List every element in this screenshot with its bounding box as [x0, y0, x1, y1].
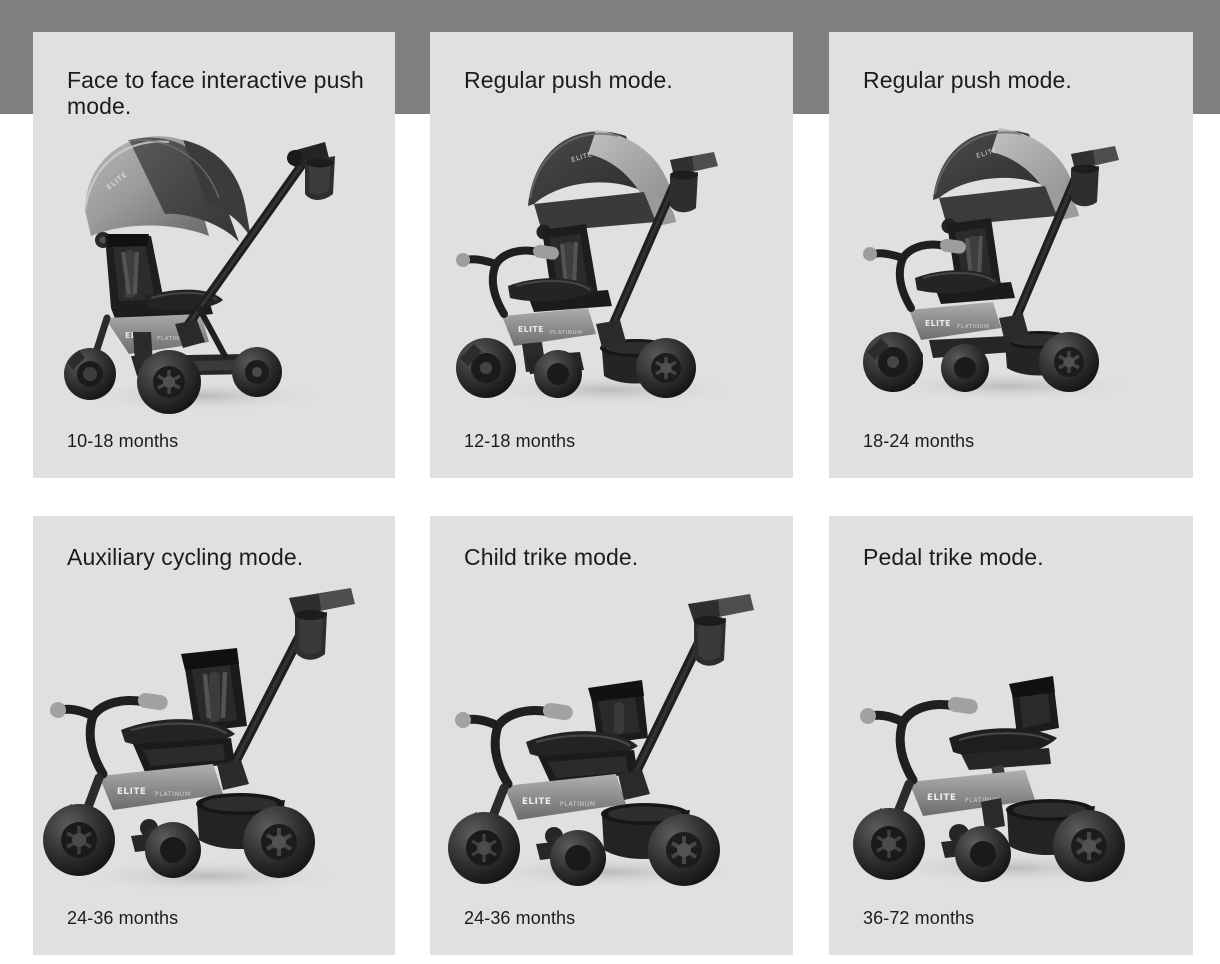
trike-illustration-child-trike: ELITE PLATINUM	[430, 578, 793, 908]
mode-card-face-to-face-push[interactable]: Face to face interactive push mode.	[33, 32, 395, 478]
mode-card-child-trike[interactable]: Child trike mode.	[430, 516, 793, 955]
mode-card-pedal-trike[interactable]: Pedal trike mode.	[829, 516, 1193, 955]
card-caption: 24-36 months	[67, 907, 178, 929]
svg-text:ELITE: ELITE	[927, 793, 957, 803]
svg-text:ELITE: ELITE	[117, 787, 147, 797]
card-title: Regular push mode.	[863, 67, 1177, 93]
card-title: Face to face interactive push mode.	[67, 67, 379, 119]
card-caption: 18-24 months	[863, 430, 974, 452]
card-caption: 24-36 months	[464, 907, 575, 929]
trike-illustration-regular-push-a: ELITE ELITE PLATINUM	[430, 118, 793, 428]
mode-card-regular-push-b[interactable]: Regular push mode.	[829, 32, 1193, 478]
mode-card-auxiliary-cycling[interactable]: Auxiliary cycling mode.	[33, 516, 395, 955]
svg-text:ELITE: ELITE	[518, 325, 544, 334]
card-caption: 36-72 months	[863, 907, 974, 929]
trike-illustration-regular-push-b: ELITE ELITE PLATINUM	[829, 118, 1193, 428]
trike-illustration-auxiliary-cycling: ELITE PLATINUM	[33, 578, 395, 908]
svg-text:ELITE: ELITE	[925, 319, 951, 328]
svg-text:PLATINUM: PLATINUM	[155, 791, 191, 798]
svg-text:PLATINUM: PLATINUM	[550, 330, 583, 336]
product-mode-gallery: Face to face interactive push mode.	[0, 0, 1220, 964]
svg-text:PLATINUM: PLATINUM	[957, 324, 990, 330]
mode-card-regular-push-a[interactable]: Regular push mode.	[430, 32, 793, 478]
card-title: Regular push mode.	[464, 67, 777, 93]
trike-illustration-face-to-face: ELITE ELITE	[33, 118, 395, 428]
card-title: Auxiliary cycling mode.	[67, 544, 379, 570]
svg-text:PLATINUM: PLATINUM	[560, 801, 596, 808]
card-caption: 12-18 months	[464, 430, 575, 452]
svg-text:ELITE: ELITE	[522, 797, 552, 807]
card-caption: 10-18 months	[67, 430, 178, 452]
card-title: Child trike mode.	[464, 544, 777, 570]
card-title: Pedal trike mode.	[863, 544, 1177, 570]
trike-illustration-pedal-trike: ELITE PLATINUM	[829, 578, 1193, 908]
